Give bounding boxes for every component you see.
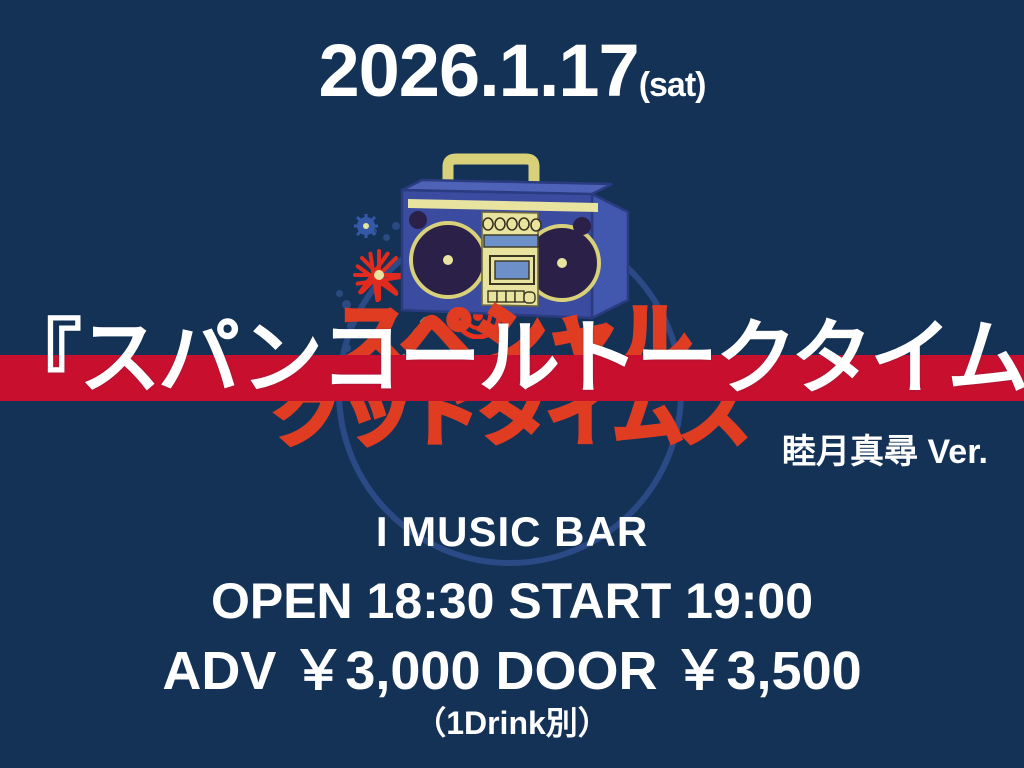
dot-trail-dot xyxy=(383,234,390,241)
performer-version: 睦月真尋 Ver. xyxy=(0,424,1024,473)
dot-trail-dot xyxy=(371,228,377,234)
drink-note: （1Drink別） xyxy=(0,698,1024,744)
open-start-times: OPEN 18:30 START 19:00 xyxy=(0,572,1024,630)
dot-trail-dot xyxy=(392,222,400,230)
event-date-line: 2026.1.17(sat) xyxy=(0,28,1024,113)
red-flower-icon xyxy=(352,248,406,302)
event-flyer: GOOD TIMES · MUSIC · xyxy=(0,0,1024,768)
ticket-prices: ADV ￥3,000 DOOR ￥3,500 xyxy=(0,626,1024,705)
dot-trail-dot xyxy=(336,290,343,297)
event-day-of-week: (sat) xyxy=(639,66,706,104)
event-date: 2026.1.17 xyxy=(318,29,638,112)
venue-name: I MUSIC BAR xyxy=(0,508,1024,556)
blue-flower-icon xyxy=(352,212,380,240)
event-title: 『スパンコールトークタイムズ』 xyxy=(0,318,1024,400)
